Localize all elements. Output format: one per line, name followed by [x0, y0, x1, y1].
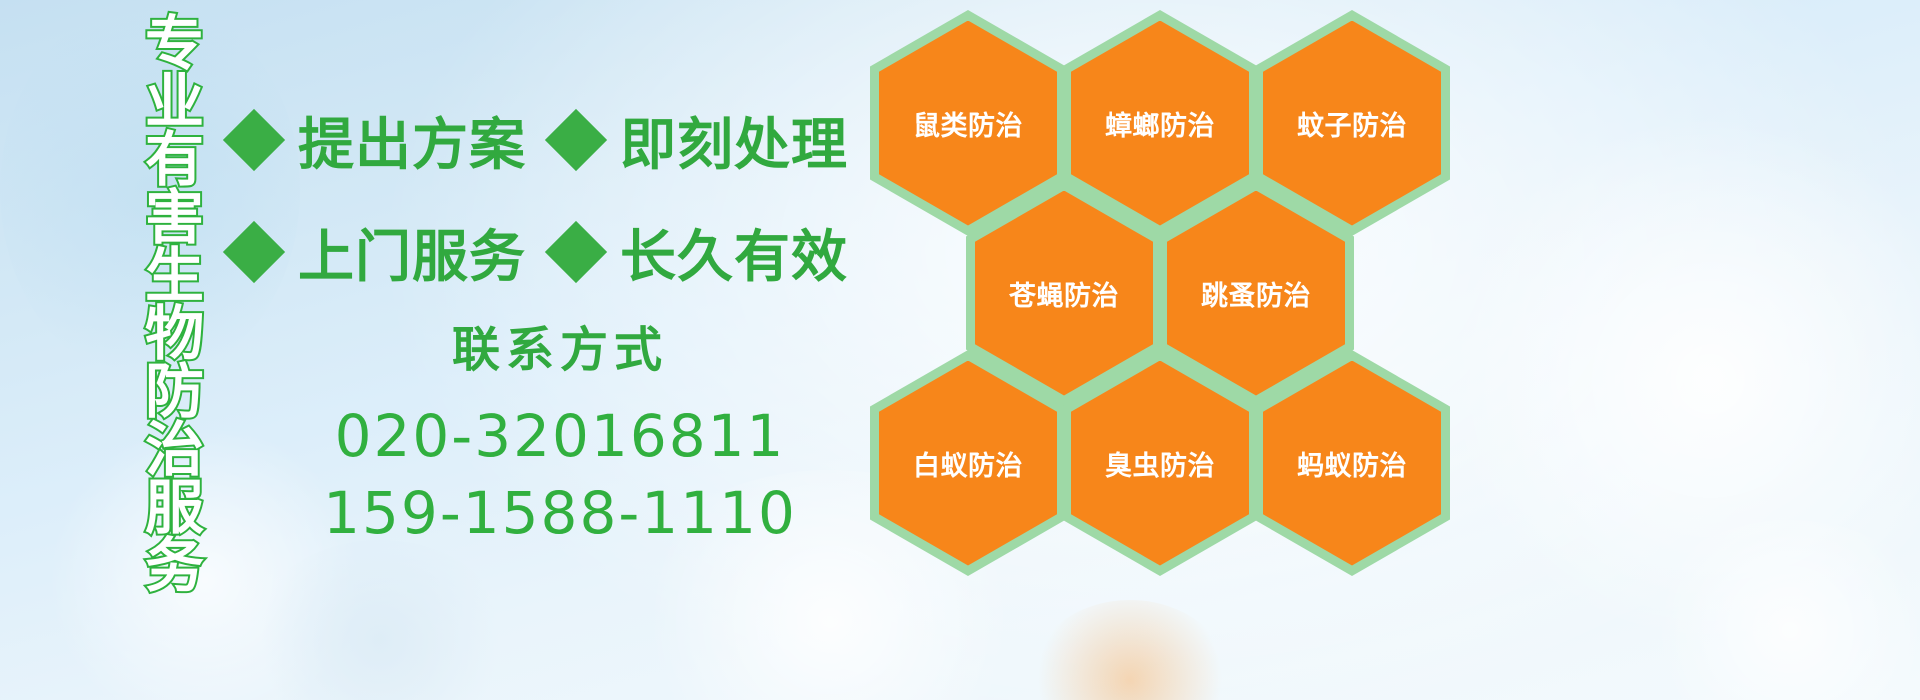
diamond-icon: [223, 109, 285, 171]
hex-label: 蚊子防治: [1297, 104, 1407, 143]
hex-inner: 蟑螂防治: [1071, 21, 1249, 226]
feature-item: 提出方案: [232, 100, 554, 181]
pest-control-banner: 专业有害生物防治服务 提出方案 即刻处理 上门服务 长久有效 联系方式: [0, 0, 1920, 700]
hex-label: 蟑螂防治: [1105, 104, 1215, 143]
vertical-headline: 专业有害生物防治服务: [112, 12, 198, 558]
contact-block: 联系方式 020-32016811 159-1588-1110: [300, 310, 820, 551]
hex-inner: 蚊子防治: [1263, 21, 1441, 226]
background-glow-bottom-left: [250, 540, 510, 700]
diamond-icon: [223, 221, 285, 283]
hex-label: 蚂蚁防治: [1297, 444, 1407, 483]
hex-label: 臭虫防治: [1105, 444, 1215, 483]
feature-item: 即刻处理: [554, 100, 876, 181]
service-honeycomb: 鼠类防治 蟑螂防治 蚊子防治 苍蝇防治 跳蚤防治 白蚁防治: [860, 0, 1480, 700]
feature-label: 上门服务: [298, 212, 526, 293]
background-glow-bottom-right: [1640, 520, 1920, 700]
feature-list: 提出方案 即刻处理 上门服务 长久有效: [232, 84, 872, 308]
feature-label: 即刻处理: [620, 100, 848, 181]
hex-label: 苍蝇防治: [1009, 274, 1119, 313]
contact-title: 联系方式: [300, 310, 820, 380]
feature-row: 提出方案 即刻处理: [232, 84, 872, 196]
background-glow-right: [1450, 120, 1920, 640]
hex-label: 跳蚤防治: [1201, 274, 1311, 313]
feature-label: 长久有效: [620, 212, 848, 293]
feature-row: 上门服务 长久有效: [232, 196, 872, 308]
hex-inner: 白蚁防治: [879, 361, 1057, 566]
hex-inner: 跳蚤防治: [1167, 191, 1345, 396]
hex-inner: 鼠类防治: [879, 21, 1057, 226]
feature-item: 长久有效: [554, 212, 876, 293]
feature-label: 提出方案: [298, 100, 526, 181]
hex-inner: 臭虫防治: [1071, 361, 1249, 566]
phone-number-mobile[interactable]: 159-1588-1110: [300, 475, 820, 552]
hex-inner: 蚂蚁防治: [1263, 361, 1441, 566]
hex-label: 白蚁防治: [913, 444, 1023, 483]
hex-inner: 苍蝇防治: [975, 191, 1153, 396]
phone-number-landline[interactable]: 020-32016811: [300, 398, 820, 475]
hex-label: 鼠类防治: [913, 104, 1023, 143]
diamond-icon: [545, 109, 607, 171]
diamond-icon: [545, 221, 607, 283]
feature-item: 上门服务: [232, 212, 554, 293]
